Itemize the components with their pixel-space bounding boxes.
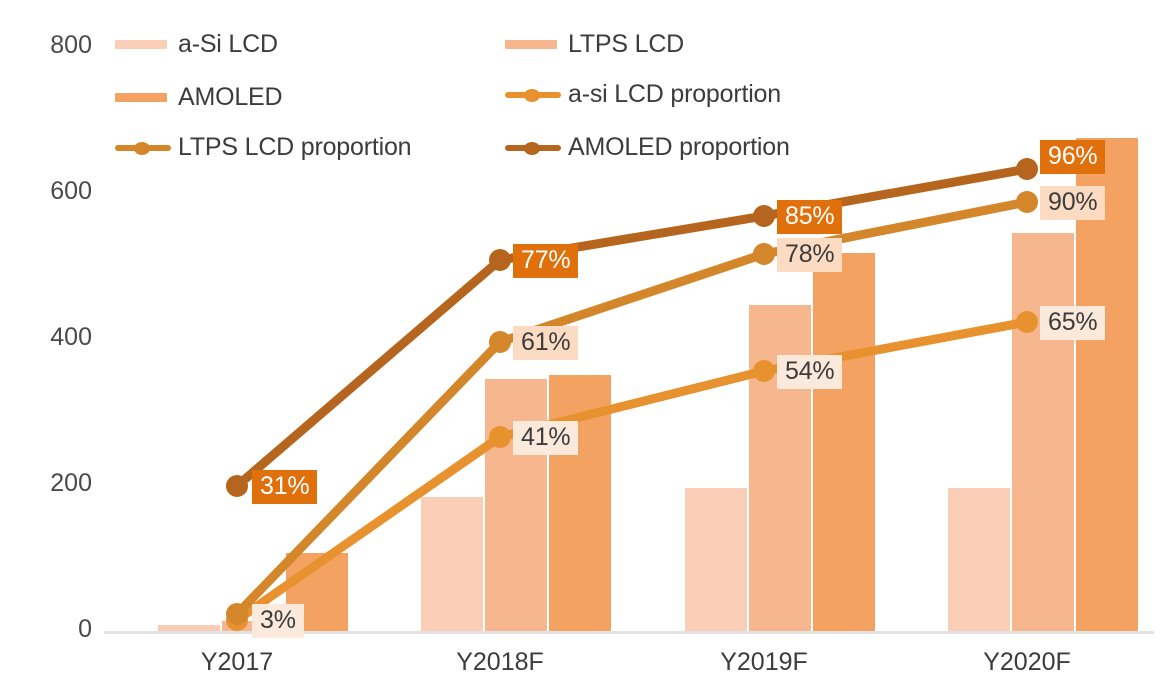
point-marker-ltps-y2019f[interactable] [753,243,775,265]
data-label-a-si-y2018f: 41% [513,421,578,455]
proportion-lines [0,0,1166,696]
plot-area: 800 600 400 200 0 [0,0,1166,696]
point-marker-amoled-y2018f[interactable] [489,249,511,271]
data-label-amoled-y2020f: 96% [1040,140,1105,174]
line-a-si-lcd-proportion [237,322,1027,620]
data-label-ltps-y2020f: 90% [1040,186,1105,220]
point-marker-amoled-y2017[interactable] [226,475,248,497]
point-marker-ltps-y2020f[interactable] [1016,191,1038,213]
data-label-a-si-y2017: 3% [252,604,304,638]
point-marker-a-si-y2018f[interactable] [489,426,511,448]
data-label-amoled-y2017: 31% [252,470,317,504]
data-label-amoled-y2018f: 77% [513,244,578,278]
data-label-amoled-y2019f: 85% [777,200,842,234]
point-marker-ltps-y2018f[interactable] [489,331,511,353]
point-marker-amoled-y2019f[interactable] [753,205,775,227]
x-axis-tick-y2020f: Y2020F [957,648,1097,677]
data-label-a-si-y2020f: 65% [1040,306,1105,340]
point-marker-a-si-y2019f[interactable] [753,360,775,382]
point-marker-ltps-y2017[interactable] [226,603,248,625]
point-marker-amoled-y2020f[interactable] [1016,158,1038,180]
chart-container: a-Si LCD LTPS LCD AMOLED a-si LCD propor… [0,0,1166,696]
x-axis-tick-y2019f: Y2019F [694,648,834,677]
x-axis-tick-y2017: Y2017 [167,648,307,677]
data-label-ltps-y2018f: 61% [513,326,578,360]
point-marker-a-si-y2020f[interactable] [1016,311,1038,333]
data-label-a-si-y2019f: 54% [777,355,842,389]
line-amoled-proportion [237,169,1027,486]
data-label-ltps-y2019f: 78% [777,238,842,272]
x-axis-tick-y2018f: Y2018F [430,648,570,677]
